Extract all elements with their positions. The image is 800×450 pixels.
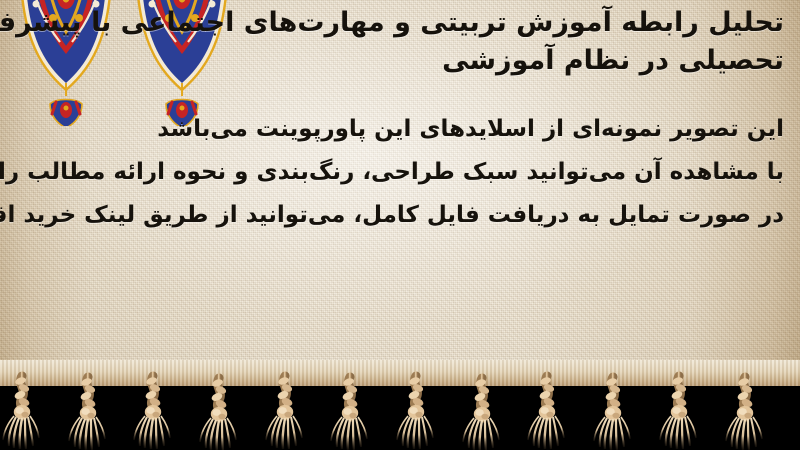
slide-canvas: تحلیل رابطه آموزش تربیتی و مهارت‌های اجت…	[0, 0, 800, 450]
slide-body: این تصویر نمونه‌ای از اسلایدهای این پاور…	[14, 108, 784, 237]
title-line-2: تحصیلی در نظام آموزشی	[24, 42, 784, 80]
slide-title: تحلیل رابطه آموزش تربیتی و مهارت‌های اجت…	[24, 4, 784, 80]
body-line-1: این تصویر نمونه‌ای از اسلایدهای این پاور…	[14, 108, 784, 151]
title-line-1: تحلیل رابطه آموزش تربیتی و مهارت‌های اجت…	[24, 4, 784, 42]
body-line-2: با مشاهده آن می‌توانید سبک طراحی، رنگ‌بن…	[14, 151, 784, 194]
fringe-tassels	[0, 360, 800, 450]
body-line-3: در صورت تمایل به دریافت فایل کامل، می‌تو…	[14, 194, 784, 237]
carpet-fringe-band	[0, 360, 800, 450]
